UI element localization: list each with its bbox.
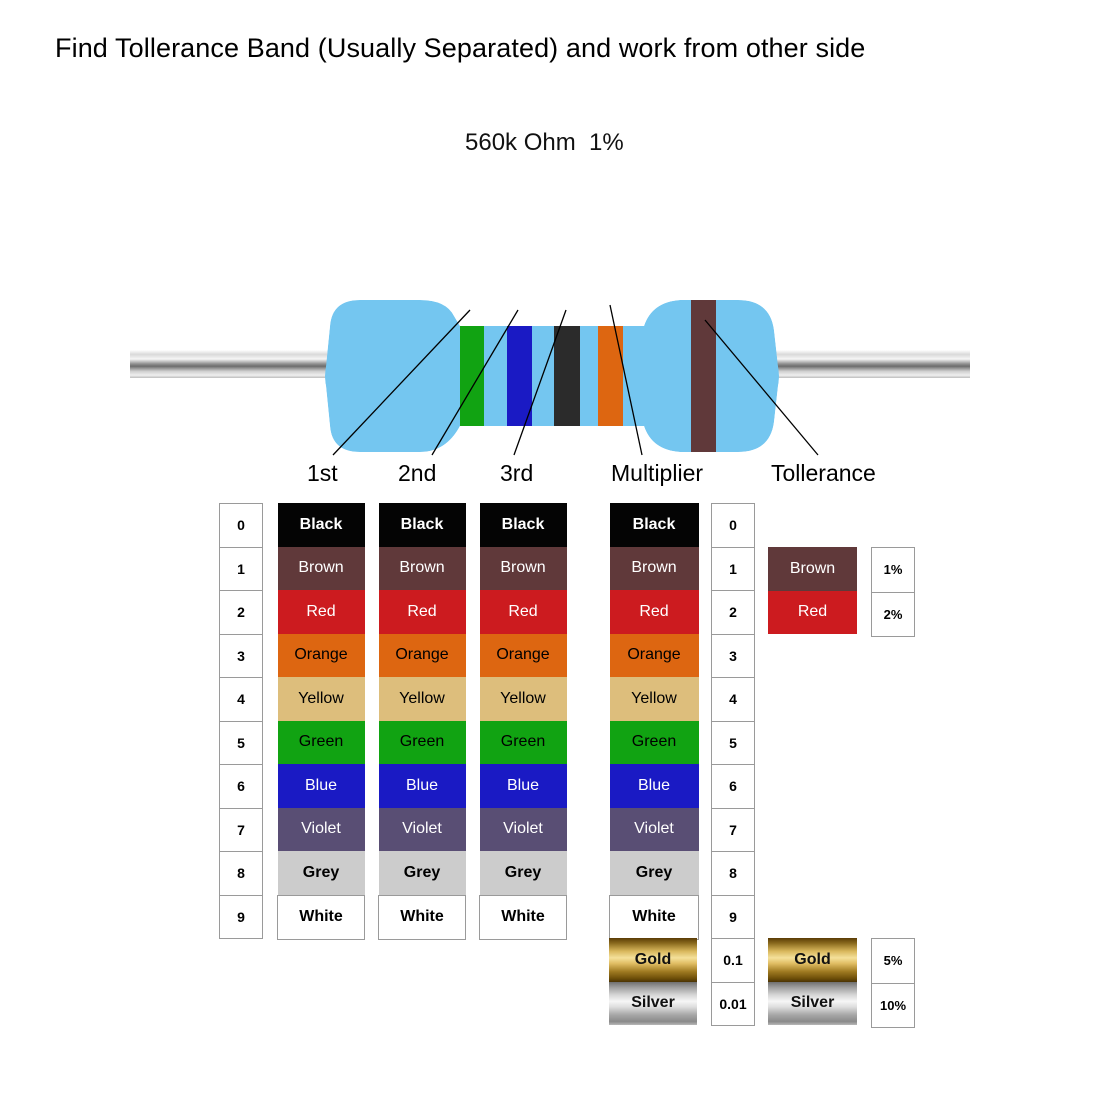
table-row: Violet: [379, 808, 466, 852]
table-row: 0.01: [712, 982, 755, 1026]
table-row: White: [480, 895, 567, 940]
leader-1st: [333, 310, 470, 455]
table-row: Orange: [379, 634, 466, 678]
table-row: Black: [480, 503, 567, 547]
color-cell-2nd-black: Black: [379, 503, 466, 547]
digit-cell-7: 7: [220, 808, 263, 852]
color-cell-2nd-brown: Brown: [379, 547, 466, 591]
table-row: 4: [220, 678, 263, 722]
color-cell-3rd-red: Red: [480, 590, 567, 634]
table-row: Yellow: [610, 677, 699, 721]
color-cell-3rd-orange: Orange: [480, 634, 567, 678]
digit-cell-9: 9: [220, 895, 263, 939]
table-row: Red: [278, 590, 365, 634]
table-row: 7: [712, 808, 755, 852]
digit-cell-mult-0: 0: [712, 504, 755, 548]
table-row: 6: [220, 765, 263, 809]
caption-1st: 1st: [307, 460, 338, 487]
table-row: Violet: [480, 808, 567, 852]
color-cell-1st-yellow: Yellow: [278, 677, 365, 721]
color-cell-3rd-yellow: Yellow: [480, 677, 567, 721]
table-row: 1%: [872, 548, 915, 593]
leader-3rd: [514, 310, 566, 455]
color-cell-mult-white: White: [610, 895, 699, 940]
color-cell-3rd-black: Black: [480, 503, 567, 547]
table-row: Blue: [610, 764, 699, 808]
table-row: Gold: [609, 938, 697, 982]
table-row: 4: [712, 678, 755, 722]
color-column-2nd: BlackBrownRedOrangeYellowGreenBlueViolet…: [378, 503, 466, 940]
color-cell-mult-orange: Orange: [610, 634, 699, 678]
digit-cell-mult-1: 1: [712, 547, 755, 591]
tol-percent-cell-0: 1%: [872, 548, 915, 593]
digit-column-multiplier: 0123456789: [711, 503, 755, 939]
table-row: Green: [379, 721, 466, 765]
digit-cell-3: 3: [220, 634, 263, 678]
multiplier-extra-digit-column: 0.10.01: [711, 938, 755, 1026]
table-row: Brown: [480, 547, 567, 591]
table-row: Grey: [379, 851, 466, 895]
digit-cell-mult-6: 6: [712, 765, 755, 809]
color-cell-2nd-yellow: Yellow: [379, 677, 466, 721]
color-column-1st: BlackBrownRedOrangeYellowGreenBlueViolet…: [277, 503, 365, 940]
table-row: Black: [610, 503, 699, 547]
table-row: 9: [220, 895, 263, 939]
digit-cell-mult-9: 9: [712, 895, 755, 939]
table-row: Blue: [480, 764, 567, 808]
table-row: Blue: [379, 764, 466, 808]
table-row: 0.1: [712, 939, 755, 983]
digit-column-left: 0123456789: [219, 503, 263, 939]
color-cell-3rd-white: White: [480, 895, 567, 940]
digit-cell-5: 5: [220, 721, 263, 765]
table-row: 2: [712, 591, 755, 635]
table-row: 0: [220, 504, 263, 548]
tolerance-color-column-top: BrownRed: [768, 547, 857, 634]
tol-color-cell-gold: Gold: [768, 938, 857, 982]
leader-multiplier: [610, 305, 642, 455]
color-cell-mult-brown: Brown: [610, 547, 699, 591]
table-row: 2%: [872, 592, 915, 637]
table-row: Black: [379, 503, 466, 547]
table-row: 6: [712, 765, 755, 809]
tol-color-cell-silver: Silver: [768, 982, 857, 1026]
color-cell-mult-grey: Grey: [610, 851, 699, 895]
leader-2nd: [432, 310, 518, 455]
table-row: Orange: [278, 634, 365, 678]
color-cell-3rd-violet: Violet: [480, 808, 567, 852]
table-row: 0: [712, 504, 755, 548]
digit-cell-6: 6: [220, 765, 263, 809]
table-row: Brown: [278, 547, 365, 591]
mult-extra-color-cell-silver: Silver: [609, 982, 697, 1026]
table-row: Violet: [278, 808, 365, 852]
color-cell-1st-brown: Brown: [278, 547, 365, 591]
table-row: Violet: [610, 808, 699, 852]
table-row: Yellow: [379, 677, 466, 721]
digit-cell-mult-8: 8: [712, 852, 755, 896]
table-row: 10%: [872, 983, 915, 1028]
color-cell-mult-black: Black: [610, 503, 699, 547]
multiplier-extra-color-column: GoldSilver: [609, 938, 697, 1025]
table-row: 5: [712, 721, 755, 765]
tol-percent-cell-0: 5%: [872, 939, 915, 984]
tolerance-percent-column-top: 1%2%: [871, 547, 915, 637]
digit-cell-mult-4: 4: [712, 678, 755, 722]
color-cell-1st-orange: Orange: [278, 634, 365, 678]
digit-cell-1: 1: [220, 547, 263, 591]
color-cell-mult-violet: Violet: [610, 808, 699, 852]
color-cell-2nd-blue: Blue: [379, 764, 466, 808]
color-cell-2nd-grey: Grey: [379, 851, 466, 895]
table-row: Green: [610, 721, 699, 765]
color-column-multiplier: BlackBrownRedOrangeYellowGreenBlueViolet…: [609, 503, 699, 940]
leader-tollerance: [705, 320, 818, 455]
color-cell-2nd-violet: Violet: [379, 808, 466, 852]
tol-percent-cell-1: 10%: [872, 983, 915, 1028]
caption-2nd: 2nd: [398, 460, 436, 487]
table-row: 9: [712, 895, 755, 939]
color-cell-mult-yellow: Yellow: [610, 677, 699, 721]
table-row: Grey: [480, 851, 567, 895]
digit-cell-4: 4: [220, 678, 263, 722]
table-row: Red: [610, 590, 699, 634]
color-cell-2nd-white: White: [379, 895, 466, 940]
color-cell-1st-violet: Violet: [278, 808, 365, 852]
table-row: Silver: [609, 982, 697, 1026]
color-cell-1st-red: Red: [278, 590, 365, 634]
color-cell-1st-white: White: [278, 895, 365, 940]
color-cell-3rd-blue: Blue: [480, 764, 567, 808]
table-row: Orange: [480, 634, 567, 678]
table-row: Yellow: [480, 677, 567, 721]
table-row: 2: [220, 591, 263, 635]
color-cell-2nd-orange: Orange: [379, 634, 466, 678]
table-row: 8: [712, 852, 755, 896]
table-row: Blue: [278, 764, 365, 808]
table-row: Red: [768, 591, 857, 635]
table-row: Brown: [610, 547, 699, 591]
caption-tollerance: Tollerance: [771, 460, 876, 487]
table-row: White: [278, 895, 365, 940]
table-row: Black: [278, 503, 365, 547]
color-cell-2nd-green: Green: [379, 721, 466, 765]
color-cell-mult-red: Red: [610, 590, 699, 634]
digit-cell-2: 2: [220, 591, 263, 635]
table-row: Green: [278, 721, 365, 765]
table-row: Silver: [768, 982, 857, 1026]
tol-percent-cell-1: 2%: [872, 592, 915, 637]
table-row: Grey: [278, 851, 365, 895]
color-cell-3rd-green: Green: [480, 721, 567, 765]
table-row: Gold: [768, 938, 857, 982]
digit-cell-mult-3: 3: [712, 634, 755, 678]
digit-cell-mult-2: 2: [712, 591, 755, 635]
color-cell-mult-blue: Blue: [610, 764, 699, 808]
table-row: Brown: [379, 547, 466, 591]
color-cell-1st-blue: Blue: [278, 764, 365, 808]
caption-3rd: 3rd: [500, 460, 533, 487]
table-row: Green: [480, 721, 567, 765]
digit-cell-mult-5: 5: [712, 721, 755, 765]
table-row: 8: [220, 852, 263, 896]
table-row: Red: [379, 590, 466, 634]
table-row: Brown: [768, 547, 857, 591]
color-cell-1st-green: Green: [278, 721, 365, 765]
color-cell-1st-black: Black: [278, 503, 365, 547]
table-row: Orange: [610, 634, 699, 678]
table-row: Grey: [610, 851, 699, 895]
tolerance-color-column-bottom: GoldSilver: [768, 938, 857, 1025]
table-row: 1: [220, 547, 263, 591]
color-cell-3rd-grey: Grey: [480, 851, 567, 895]
mult-extra-digit-cell-1: 0.01: [712, 982, 755, 1026]
color-cell-1st-grey: Grey: [278, 851, 365, 895]
table-row: 5: [220, 721, 263, 765]
tol-color-cell-red: Red: [768, 591, 857, 635]
table-row: 1: [712, 547, 755, 591]
color-cell-mult-green: Green: [610, 721, 699, 765]
table-row: 3: [712, 634, 755, 678]
table-row: Red: [480, 590, 567, 634]
tolerance-percent-column-bottom: 5%10%: [871, 938, 915, 1028]
table-row: Yellow: [278, 677, 365, 721]
table-row: 7: [220, 808, 263, 852]
table-row: 5%: [872, 939, 915, 984]
table-row: White: [610, 895, 699, 940]
mult-extra-color-cell-gold: Gold: [609, 938, 697, 982]
color-column-3rd: BlackBrownRedOrangeYellowGreenBlueViolet…: [479, 503, 567, 940]
digit-cell-mult-7: 7: [712, 808, 755, 852]
digit-cell-8: 8: [220, 852, 263, 896]
digit-cell-0: 0: [220, 504, 263, 548]
mult-extra-digit-cell-0: 0.1: [712, 939, 755, 983]
table-row: 3: [220, 634, 263, 678]
table-row: White: [379, 895, 466, 940]
color-cell-2nd-red: Red: [379, 590, 466, 634]
tol-color-cell-brown: Brown: [768, 547, 857, 591]
color-cell-3rd-brown: Brown: [480, 547, 567, 591]
caption-multiplier: Multiplier: [611, 460, 703, 487]
